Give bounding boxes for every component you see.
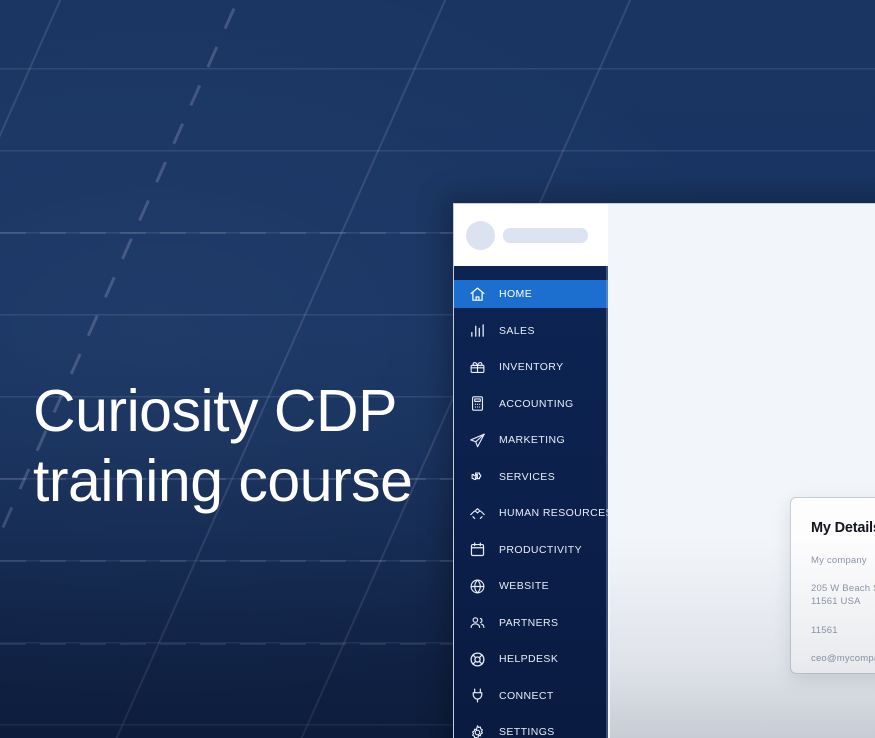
sidebar-item-services[interactable]: SERVICES [454,463,608,491]
sidebar-item-website[interactable]: WEBSITE [454,572,608,600]
sidebar-item-accounting[interactable]: ACCOUNTING [454,390,608,418]
avatar [466,221,495,250]
globe-icon [469,578,486,595]
lifebuoy-icon [469,651,486,668]
paper-plane-icon [469,432,486,449]
sidebar-item-label: ACCOUNTING [499,398,574,410]
company-postcode: 11561 [811,624,875,637]
sidebar-item-settings[interactable]: SETTINGS [454,718,608,738]
sidebar-item-label: WEBSITE [499,580,549,592]
box-icon [469,359,486,376]
gear-icon [469,724,486,738]
calculator-icon [469,395,486,412]
home-icon [469,286,486,303]
page-title: Curiosity CDP training course [33,376,463,516]
sidebar-item-label: PRODUCTIVITY [499,544,582,556]
plug-icon [469,687,486,704]
sidebar-item-label: SETTINGS [499,726,555,738]
sidebar-item-human-resources[interactable]: HUMAN RESOURCES [454,499,608,527]
sidebar-item-label: HUMAN RESOURCES [499,507,608,519]
sidebar-item-helpdesk[interactable]: HELPDESK [454,645,608,673]
calendar-icon [469,541,486,558]
company-name: My company [811,554,875,567]
promo-banner: Curiosity CDP training course HOME [0,0,875,738]
sidebar-item-home[interactable]: HOME [454,280,608,308]
my-details-card[interactable]: My Details My company 205 W Beach St Lon… [790,497,875,674]
sidebar-item-productivity[interactable]: PRODUCTIVITY [454,536,608,564]
sidebar-item-label: MARKETING [499,434,565,446]
sidebar-item-sales[interactable]: SALES [454,317,608,345]
users-icon [469,614,486,631]
puzzle-icon [469,468,486,485]
sidebar-item-label: CONNECT [499,690,554,702]
bar-chart-icon [469,322,486,339]
app-topbar-filler [608,204,875,266]
sidebar-item-inventory[interactable]: INVENTORY [454,353,608,381]
sidebar-item-label: HOME [499,288,532,300]
sidebar-item-label: INVENTORY [499,361,563,373]
sidebar-item-partners[interactable]: PARTNERS [454,609,608,637]
company-address: 205 W Beach St Long Beach NY 11561 USA [811,582,875,608]
handshake-icon [469,505,486,522]
sidebar-item-label: SERVICES [499,471,555,483]
title-placeholder-bar [503,228,588,243]
company-email: ceo@mycompany.com [811,652,875,665]
sidebar-item-label: HELPDESK [499,653,558,665]
sidebar-item-connect[interactable]: CONNECT [454,682,608,710]
main-content: C My Details My company 205 W Beach St L… [610,266,875,738]
sidebar-item-label: SALES [499,325,535,337]
sidebar-item-label: PARTNERS [499,617,558,629]
card-title: My Details [811,520,875,536]
app-window-mockup: HOME SALES INVENTORY [453,203,875,738]
app-topbar [454,204,608,266]
sidebar: HOME SALES INVENTORY [454,266,608,738]
sidebar-item-marketing[interactable]: MARKETING [454,426,608,454]
